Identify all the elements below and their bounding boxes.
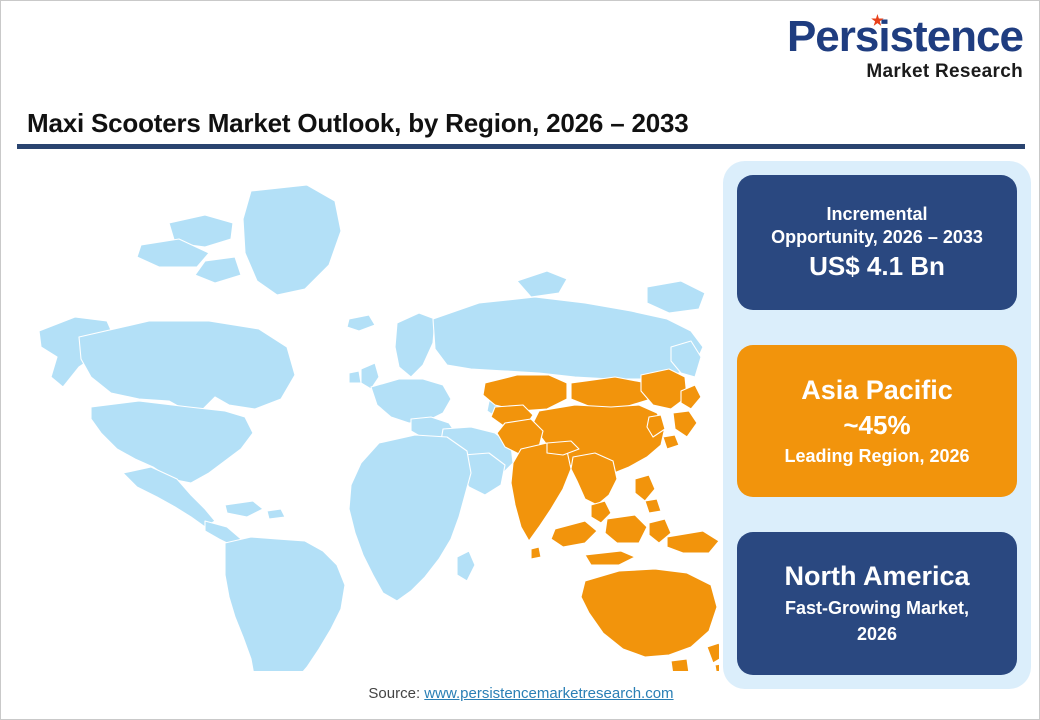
map-region-ne-china — [641, 369, 687, 409]
map-region-java — [585, 551, 635, 565]
map-region-scandinavia — [395, 313, 435, 377]
map-region-australia — [581, 569, 717, 657]
source-link[interactable]: www.persistencemarketresearch.com — [424, 685, 673, 702]
map-region-philippines-2 — [645, 499, 661, 513]
map-region-japan-3 — [663, 435, 679, 449]
incremental-value: US$ 4.1 Bn — [809, 251, 945, 282]
map-region-philippines — [635, 475, 655, 501]
stats-panel: Incremental Opportunity, 2026 – 2033 US$… — [723, 161, 1031, 689]
incremental-label-line1: Incremental — [826, 203, 927, 226]
world-map — [19, 161, 719, 671]
map-region-russia-north — [517, 271, 567, 297]
map-region-japan-2 — [673, 411, 697, 437]
brand-logo: Persistence Market Research — [783, 15, 1023, 81]
brand-name: Persistence — [787, 15, 1023, 59]
map-region-iceland — [347, 315, 375, 331]
map-region-europe — [371, 379, 451, 423]
map-region-india — [511, 443, 571, 541]
brand-tagline: Market Research — [783, 62, 1023, 81]
leading-region-name: Asia Pacific — [801, 375, 953, 406]
map-region-caribbean-2 — [267, 509, 285, 519]
map-region-new-zealand-2 — [715, 663, 719, 671]
fast-growing-caption-line1: Fast-Growing Market, — [785, 597, 969, 620]
map-region-borneo — [605, 515, 647, 543]
map-region-sri-lanka — [531, 547, 541, 559]
map-region-canada — [79, 321, 295, 411]
incremental-opportunity-card: Incremental Opportunity, 2026 – 2033 US$… — [737, 175, 1017, 310]
map-region-png — [667, 531, 719, 553]
page-title: Maxi Scooters Market Outlook, by Region,… — [27, 108, 689, 139]
map-region-ireland — [349, 371, 361, 383]
fast-growing-caption-line2: 2026 — [857, 623, 897, 646]
map-region-greenland — [243, 185, 341, 295]
fast-growing-region-name: North America — [784, 561, 969, 592]
map-region-caribbean — [225, 501, 263, 517]
map-region-tasmania — [671, 659, 689, 671]
map-highlight-asia-pacific — [483, 369, 719, 671]
map-region-indochina — [571, 453, 617, 505]
map-region-usa — [91, 401, 253, 483]
source-label: Source: — [368, 685, 424, 702]
map-region-sumatra — [551, 521, 597, 547]
fast-growing-market-card: North America Fast-Growing Market, 2026 — [737, 532, 1017, 675]
map-region-madagascar — [457, 551, 475, 581]
title-divider — [17, 144, 1025, 149]
map-region-new-zealand — [707, 643, 719, 663]
source-line: Source: www.persistencemarketresearch.co… — [1, 685, 1040, 702]
incremental-label-line2: Opportunity, 2026 – 2033 — [771, 226, 983, 249]
map-region-russia-ne — [647, 281, 705, 313]
map-region-mongolia — [571, 377, 651, 407]
leading-region-card: Asia Pacific ~45% Leading Region, 2026 — [737, 345, 1017, 497]
leading-region-share: ~45% — [843, 410, 910, 441]
map-region-africa — [349, 435, 471, 601]
map-region-kazakhstan — [483, 375, 567, 411]
leading-region-caption: Leading Region, 2026 — [784, 445, 969, 468]
infographic-page: Persistence Market Research Maxi Scooter… — [0, 0, 1040, 720]
brand-name-text: Persistence — [787, 12, 1023, 61]
map-region-south-america — [225, 537, 345, 671]
